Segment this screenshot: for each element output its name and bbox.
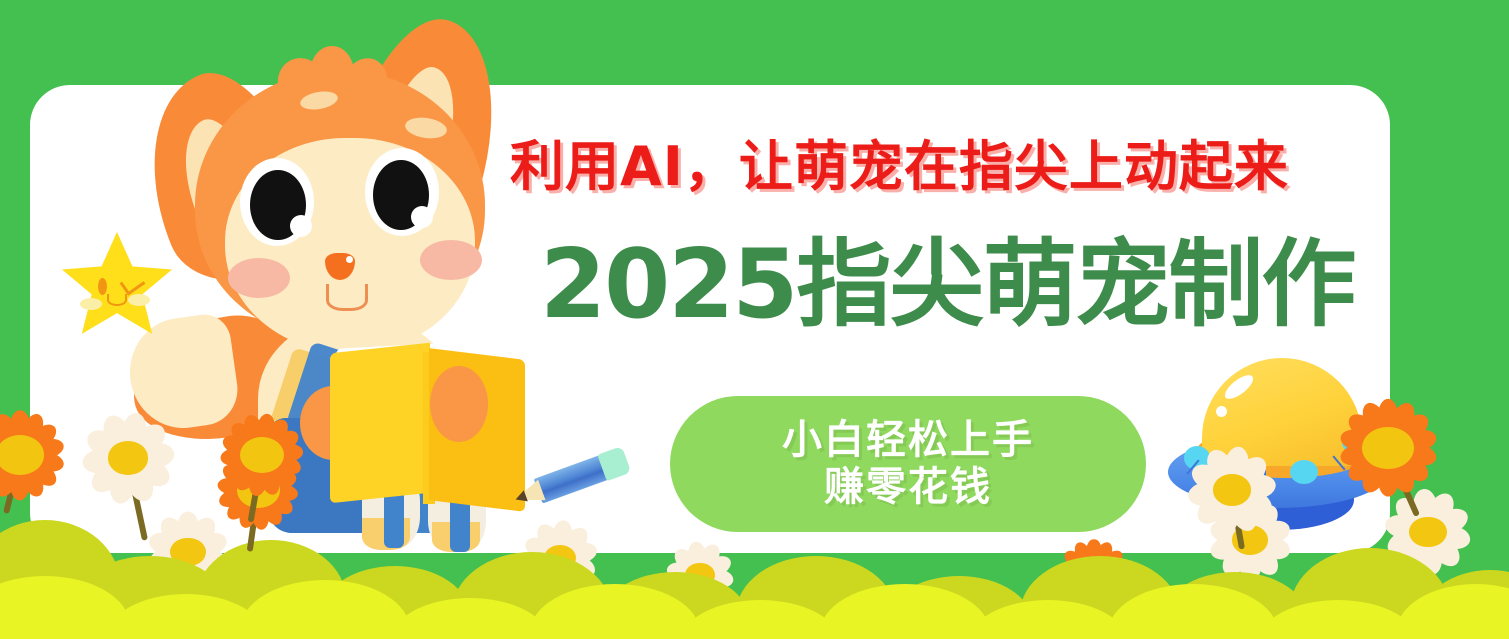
marigold-left-flower bbox=[0, 407, 68, 503]
fox-eye-glint-right bbox=[411, 206, 433, 228]
page-title: 2025指尖萌宠制作 bbox=[540, 238, 1354, 333]
headline-text: 利用AI，让萌宠在指尖上动起来 bbox=[510, 122, 1289, 201]
fox-eye-glint-left bbox=[290, 215, 312, 237]
marigold-right-flower bbox=[1336, 396, 1440, 500]
daisy-left-flower bbox=[80, 410, 176, 506]
fox-cheek-left bbox=[228, 258, 290, 298]
flower-center bbox=[108, 441, 148, 474]
benefit-line-1: 小白轻松上手 bbox=[782, 417, 1034, 464]
star-eye bbox=[98, 278, 107, 295]
winking-star-icon bbox=[62, 232, 172, 336]
star-blush-right bbox=[128, 294, 150, 306]
benefit-pill[interactable]: 小白轻松上手 赚零花钱 bbox=[670, 396, 1146, 532]
fox-mouth bbox=[326, 284, 368, 311]
fox-mascot bbox=[140, 18, 540, 538]
star-blush-left bbox=[80, 298, 102, 310]
fox-arm-right bbox=[430, 366, 488, 442]
flower-center bbox=[0, 435, 44, 474]
flower-center bbox=[1409, 517, 1447, 548]
promo-poster: 利用AI，让萌宠在指尖上动起来 2025指尖萌宠制作 小白轻松上手 赚零花钱 bbox=[0, 0, 1509, 639]
marigold-mid-flower bbox=[218, 411, 306, 499]
flower-center bbox=[1362, 427, 1414, 470]
daisy-ufo-flower bbox=[1186, 444, 1278, 536]
fox-book-left-cover bbox=[330, 343, 430, 504]
star-smile bbox=[107, 294, 127, 306]
fox-nose-highlight bbox=[346, 256, 353, 263]
flower-center bbox=[1213, 474, 1252, 506]
benefit-line-2: 赚零花钱 bbox=[824, 464, 992, 511]
star-shape bbox=[62, 232, 172, 336]
flower-center bbox=[240, 437, 284, 473]
fox-cheek-right bbox=[420, 240, 482, 280]
ufo-light-3 bbox=[1290, 460, 1318, 484]
ufo-dome-glint-2 bbox=[1216, 406, 1227, 417]
